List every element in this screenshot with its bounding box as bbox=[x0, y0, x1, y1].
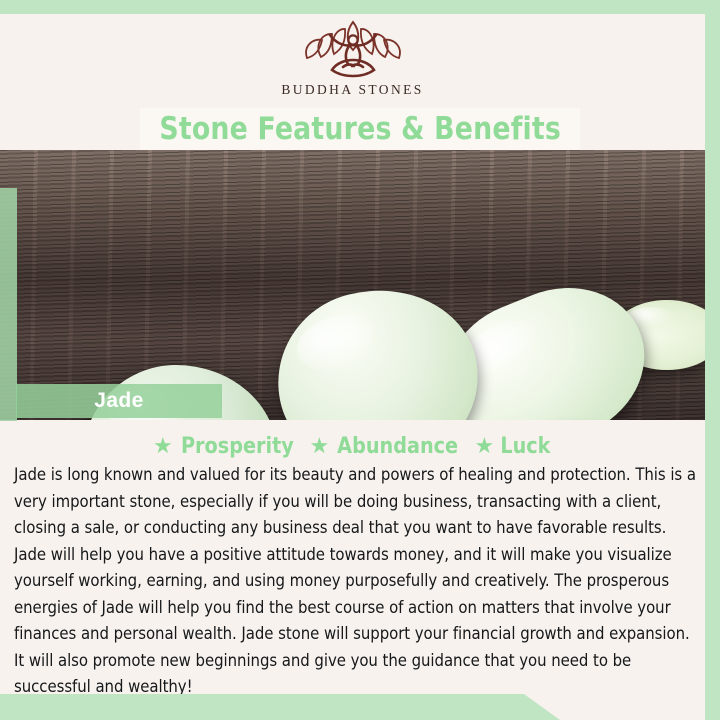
benefits-list: ★ Prosperity ★ Abundance ★ Luck bbox=[0, 430, 705, 462]
right-accent-bar bbox=[705, 150, 720, 420]
jade-stones-photo bbox=[0, 150, 720, 420]
stone-name-label: Jade bbox=[94, 389, 143, 413]
brand-wordmark: BUDDHA STONES bbox=[281, 82, 423, 98]
stone-name-badge: Jade bbox=[16, 384, 222, 418]
stone-description: Jade is long known and valued for its be… bbox=[14, 462, 698, 701]
page-title-band: Stone Features & Benefits bbox=[140, 108, 580, 150]
star-icon: ★ bbox=[475, 435, 495, 457]
benefit-item-abundance: ★ Abundance bbox=[310, 433, 462, 459]
benefit-label: Luck bbox=[501, 433, 551, 459]
infographic-page: BUDDHA STONES Stone Features & Benefits … bbox=[0, 0, 720, 720]
page-title: Stone Features & Benefits bbox=[159, 111, 561, 147]
benefit-item-luck: ★ Luck bbox=[475, 433, 553, 459]
bottom-accent-band bbox=[0, 694, 560, 720]
star-icon: ★ bbox=[153, 435, 173, 457]
lotus-meditation-icon bbox=[297, 18, 409, 80]
benefit-label: Abundance bbox=[337, 433, 458, 459]
benefit-label: Prosperity bbox=[181, 433, 294, 459]
benefit-item-prosperity: ★ Prosperity bbox=[153, 433, 297, 459]
star-icon: ★ bbox=[310, 435, 330, 457]
left-accent-bar bbox=[0, 188, 17, 421]
brand-header: BUDDHA STONES bbox=[0, 14, 705, 106]
